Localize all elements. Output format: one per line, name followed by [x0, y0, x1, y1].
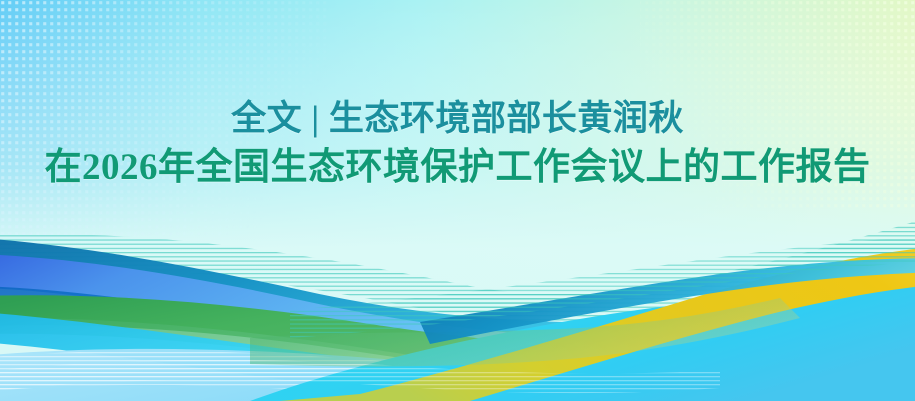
halftone-dot-grid-right: [640, 0, 915, 210]
halftone-dot-grid-left: [0, 0, 330, 240]
banner-artwork: [0, 0, 915, 401]
banner-hero: 全文 | 生态环境部部长黄润秋 在2026年全国生态环境保护工作会议上的工作报告: [0, 0, 915, 401]
